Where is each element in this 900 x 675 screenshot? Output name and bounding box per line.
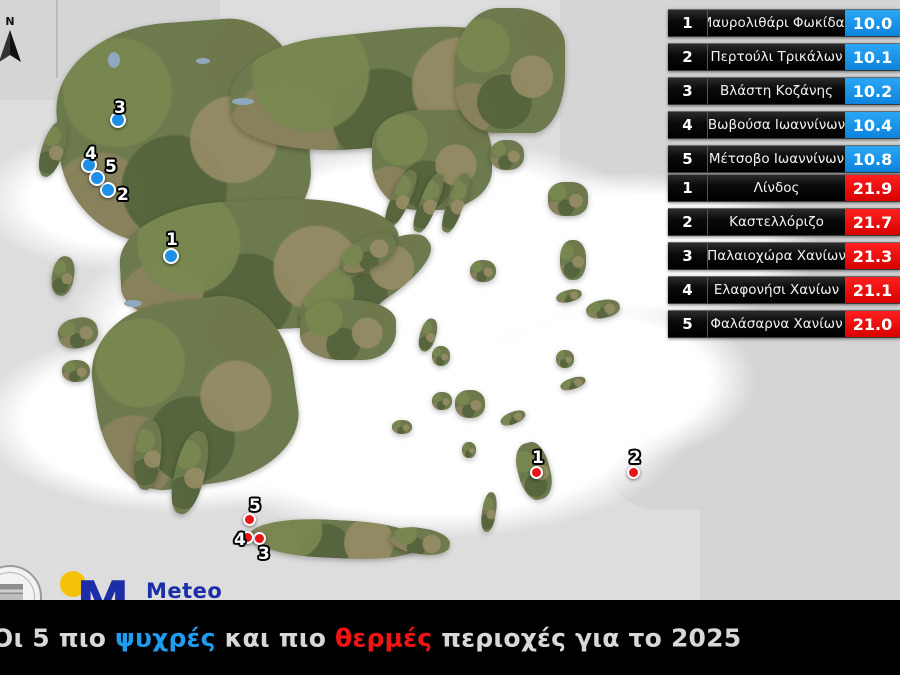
coldest-rank: 3 bbox=[668, 78, 708, 104]
warmest-row[interactable]: 5Φαλάσαρνα Χανίων21.0 bbox=[668, 310, 900, 338]
cold-marker-1[interactable] bbox=[163, 248, 179, 264]
coldest-row[interactable]: 1Μαυρολιθάρι Φωκίδας10.0 bbox=[668, 9, 900, 37]
coldest-row[interactable]: 2Περτούλι Τρικάλων10.1 bbox=[668, 43, 900, 71]
coldest-location: Μέτσοβο Ιωαννίνων bbox=[708, 146, 845, 172]
caption-suffix: περιοχές για το 2025 bbox=[432, 623, 741, 652]
cold-marker-label-5: 5 bbox=[105, 159, 117, 176]
coldest-location: Μαυρολιθάρι Φωκίδας bbox=[708, 10, 845, 36]
coldest-ranking-table: 1Μαυρολιθάρι Φωκίδας10.02Περτούλι Τρικάλ… bbox=[660, 9, 900, 179]
warmest-location: Φαλάσαρνα Χανίων bbox=[708, 311, 845, 337]
coldest-rank: 4 bbox=[668, 112, 708, 138]
warmest-temperature: 21.7 bbox=[845, 209, 900, 235]
caption-prefix: Οι 5 πιο bbox=[0, 623, 115, 652]
warmest-row[interactable]: 1Λίνδος21.9 bbox=[668, 174, 900, 202]
warmest-rank: 1 bbox=[668, 175, 708, 201]
warmest-rank: 3 bbox=[668, 243, 708, 269]
cold-marker-label-1: 1 bbox=[166, 232, 178, 249]
coldest-temperature: 10.1 bbox=[845, 44, 900, 70]
warmest-temperature: 21.3 bbox=[845, 243, 900, 269]
coldest-rank: 2 bbox=[668, 44, 708, 70]
coldest-location: Βωβούσα Ιωαννίνων bbox=[708, 112, 845, 138]
warmest-rank: 5 bbox=[668, 311, 708, 337]
warmest-location: Καστελλόριζο bbox=[708, 209, 845, 235]
hot-marker-label-3: 3 bbox=[258, 546, 270, 563]
caption-middle: και πιο bbox=[216, 623, 335, 652]
caption-hot-word: θερμές bbox=[335, 623, 432, 652]
coldest-rank: 5 bbox=[668, 146, 708, 172]
hot-marker-label-4: 4 bbox=[234, 532, 246, 549]
warmest-location: Ελαφονήσι Χανίων bbox=[708, 277, 845, 303]
hot-marker-label-1: 1 bbox=[532, 450, 544, 467]
warmest-row[interactable]: 3Παλαιοχώρα Χανίων21.3 bbox=[668, 242, 900, 270]
warmest-location: Λίνδος bbox=[708, 175, 845, 201]
hot-marker-3[interactable] bbox=[253, 532, 266, 545]
warmest-temperature: 21.9 bbox=[845, 175, 900, 201]
hot-marker-label-5: 5 bbox=[249, 498, 261, 515]
caption-cold-word: ψυχρές bbox=[115, 623, 216, 652]
coldest-row[interactable]: 5Μέτσοβο Ιωαννίνων10.8 bbox=[668, 145, 900, 173]
coldest-location: Βλάστη Κοζάνης bbox=[708, 78, 845, 104]
warmest-temperature: 21.0 bbox=[845, 311, 900, 337]
cold-marker-2[interactable] bbox=[100, 182, 116, 198]
warmest-ranking-table: 1Λίνδος21.92Καστελλόριζο21.73Παλαιοχώρα … bbox=[660, 174, 900, 344]
coldest-temperature: 10.8 bbox=[845, 146, 900, 172]
caption-text: Οι 5 πιο ψυχρές και πιο θερμές περιοχές … bbox=[0, 623, 741, 652]
warmest-rank: 4 bbox=[668, 277, 708, 303]
coldest-location: Περτούλι Τρικάλων bbox=[708, 44, 845, 70]
cold-marker-label-4: 4 bbox=[85, 146, 97, 163]
caption-bar: Οι 5 πιο ψυχρές και πιο θερμές περιοχές … bbox=[0, 600, 900, 675]
coldest-temperature: 10.0 bbox=[845, 10, 900, 36]
coldest-rank: 1 bbox=[668, 10, 708, 36]
infographic-root: N 1234512345 1Μαυρολιθάρι Φωκίδας10.02Πε… bbox=[0, 0, 900, 675]
warmest-rank: 2 bbox=[668, 209, 708, 235]
warmest-row[interactable]: 4Ελαφονήσι Χανίων21.1 bbox=[668, 276, 900, 304]
warmest-temperature: 21.1 bbox=[845, 277, 900, 303]
warmest-location: Παλαιοχώρα Χανίων bbox=[708, 243, 845, 269]
coldest-row[interactable]: 3Βλάστη Κοζάνης10.2 bbox=[668, 77, 900, 105]
coldest-temperature: 10.4 bbox=[845, 112, 900, 138]
hot-marker-label-2: 2 bbox=[629, 450, 641, 467]
warmest-row[interactable]: 2Καστελλόριζο21.7 bbox=[668, 208, 900, 236]
cold-marker-label-3: 3 bbox=[114, 100, 126, 117]
coldest-row[interactable]: 4Βωβούσα Ιωαννίνων10.4 bbox=[668, 111, 900, 139]
coldest-temperature: 10.2 bbox=[845, 78, 900, 104]
cold-marker-label-2: 2 bbox=[117, 187, 129, 204]
cold-marker-5[interactable] bbox=[89, 170, 105, 186]
